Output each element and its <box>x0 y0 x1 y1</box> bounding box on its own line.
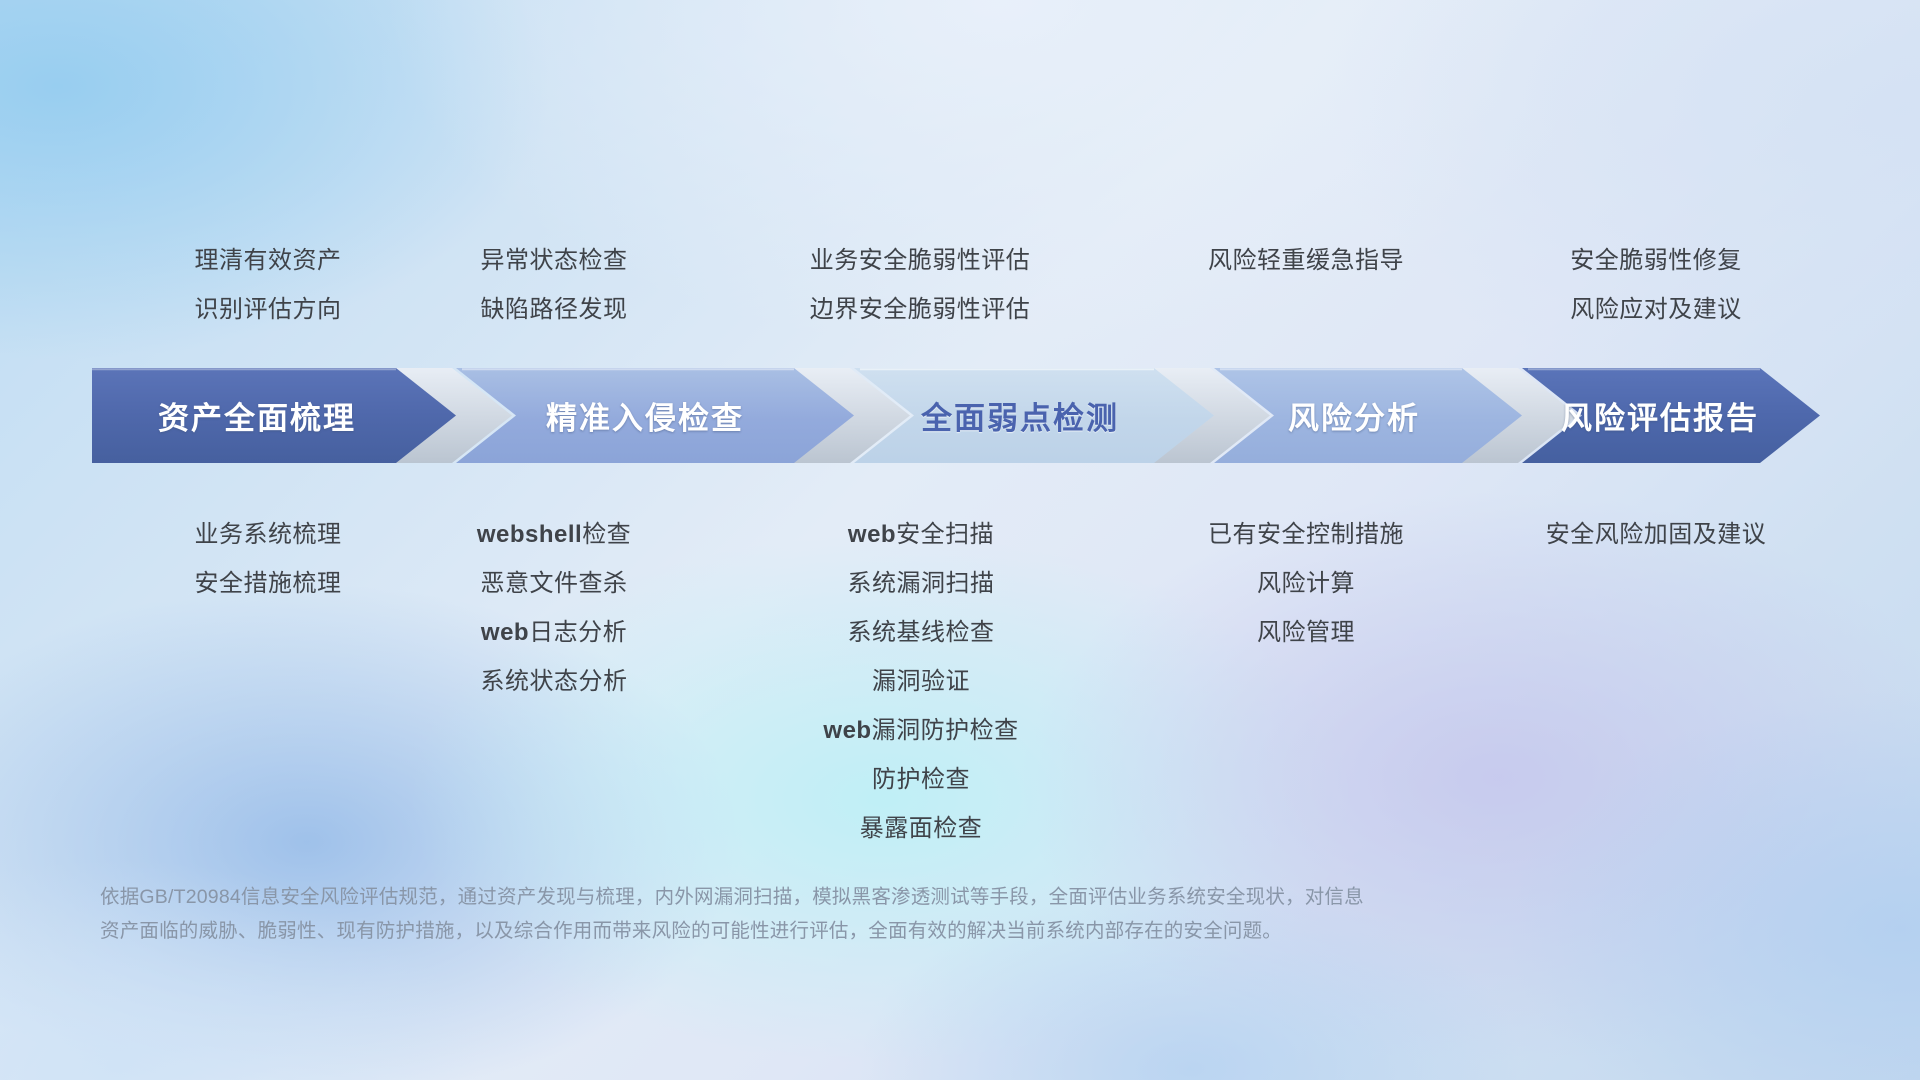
list-item: 风险计算 <box>1086 559 1526 608</box>
stage-4-label-wrap[interactable]: 风险分析 <box>1222 368 1486 463</box>
list-item: 恶意文件查杀 <box>394 559 714 608</box>
stage-1-label: 资产全面梳理 <box>158 393 356 438</box>
stage-5-top-item: 风险应对及建议 <box>1456 285 1856 334</box>
stage-5-label: 风险评估报告 <box>1561 393 1759 438</box>
stage-3-top-descriptors: 业务安全脆弱性评估 边界安全脆弱性评估 <box>700 236 1140 334</box>
footer-line-1: 依据GB/T20984信息安全风险评估规范，通过资产发现与梳理，内外网漏洞扫描，… <box>100 880 1660 914</box>
stage-2-top-item: 缺陷路径发现 <box>394 285 714 334</box>
stage-4-label: 风险分析 <box>1288 393 1420 438</box>
list-item: 漏洞验证 <box>726 657 1116 706</box>
stage-5-top-item: 安全脆弱性修复 <box>1456 236 1856 285</box>
list-item: 系统状态分析 <box>394 657 714 706</box>
stage-3-detail-list: web安全扫描 系统漏洞扫描 系统基线检查 漏洞验证 web漏洞防护检查 防护检… <box>726 510 1116 853</box>
stage-5-label-wrap[interactable]: 风险评估报告 <box>1530 368 1790 463</box>
list-item: web安全扫描 <box>726 510 1116 559</box>
stage-1-label-wrap[interactable]: 资产全面梳理 <box>92 368 422 463</box>
list-item: web漏洞防护检查 <box>726 706 1116 755</box>
stage-2-top-descriptors: 异常状态检查 缺陷路径发现 <box>394 236 714 334</box>
stage-2-top-item: 异常状态检查 <box>394 236 714 285</box>
stage-2-label: 精准入侵检查 <box>546 393 744 438</box>
list-item: webshell检查 <box>394 510 714 559</box>
stage-3-label-wrap[interactable]: 全面弱点检测 <box>860 368 1180 463</box>
stage-5-detail-list: 安全风险加固及建议 <box>1456 510 1856 559</box>
list-item: 防护检查 <box>726 755 1116 804</box>
list-item: 暴露面检查 <box>726 804 1116 853</box>
stage-5-top-descriptors: 安全脆弱性修复 风险应对及建议 <box>1456 236 1856 334</box>
list-item: 安全风险加固及建议 <box>1456 510 1856 559</box>
footer-description: 依据GB/T20984信息安全风险评估规范，通过资产发现与梳理，内外网漏洞扫描，… <box>100 880 1660 948</box>
stage-2-detail-list: webshell检查 恶意文件查杀 web日志分析 系统状态分析 <box>394 510 714 706</box>
list-item: web日志分析 <box>394 608 714 657</box>
stage-3-top-item: 业务安全脆弱性评估 <box>700 236 1140 285</box>
list-item: 系统漏洞扫描 <box>726 559 1116 608</box>
list-item: 风险管理 <box>1086 608 1526 657</box>
stage-3-top-item: 边界安全脆弱性评估 <box>700 285 1140 334</box>
stage-3-label: 全面弱点检测 <box>921 393 1119 438</box>
stage-2-label-wrap[interactable]: 精准入侵检查 <box>470 368 820 463</box>
list-item: 系统基线检查 <box>726 608 1116 657</box>
footer-line-2: 资产面临的威胁、脆弱性、现有防护措施，以及综合作用而带来风险的可能性进行评估，全… <box>100 914 1660 948</box>
